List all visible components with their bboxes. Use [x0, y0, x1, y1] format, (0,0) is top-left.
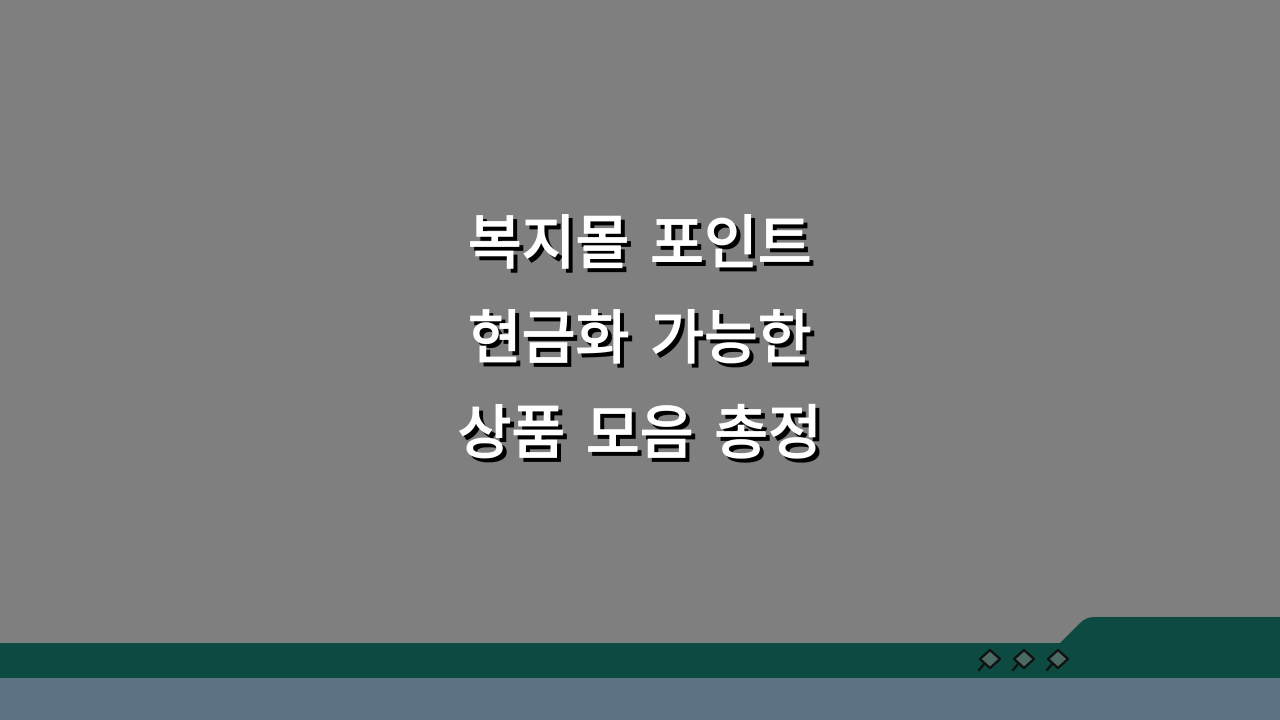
headline-line-2: 현금화 가능한 — [0, 291, 1280, 386]
sparkle-group — [976, 643, 1072, 677]
headline-line-1: 복지몰 포인트 — [0, 196, 1280, 291]
headline-block: 복지몰 포인트 현금화 가능한 상품 모음 총정 — [0, 196, 1280, 481]
sparkle-diamond-1-icon — [976, 646, 1004, 674]
bottom-decoration — [0, 610, 1280, 720]
teal-band-shape — [0, 617, 1280, 678]
sparkle-diamond-2-icon — [1010, 646, 1038, 674]
sparkle-diamond-3-icon — [1044, 646, 1072, 674]
slide-canvas: 복지몰 포인트 현금화 가능한 상품 모음 총정 — [0, 0, 1280, 720]
headline-line-3: 상품 모음 총정 — [0, 386, 1280, 481]
slate-bar — [0, 678, 1280, 720]
teal-band — [0, 610, 1280, 678]
